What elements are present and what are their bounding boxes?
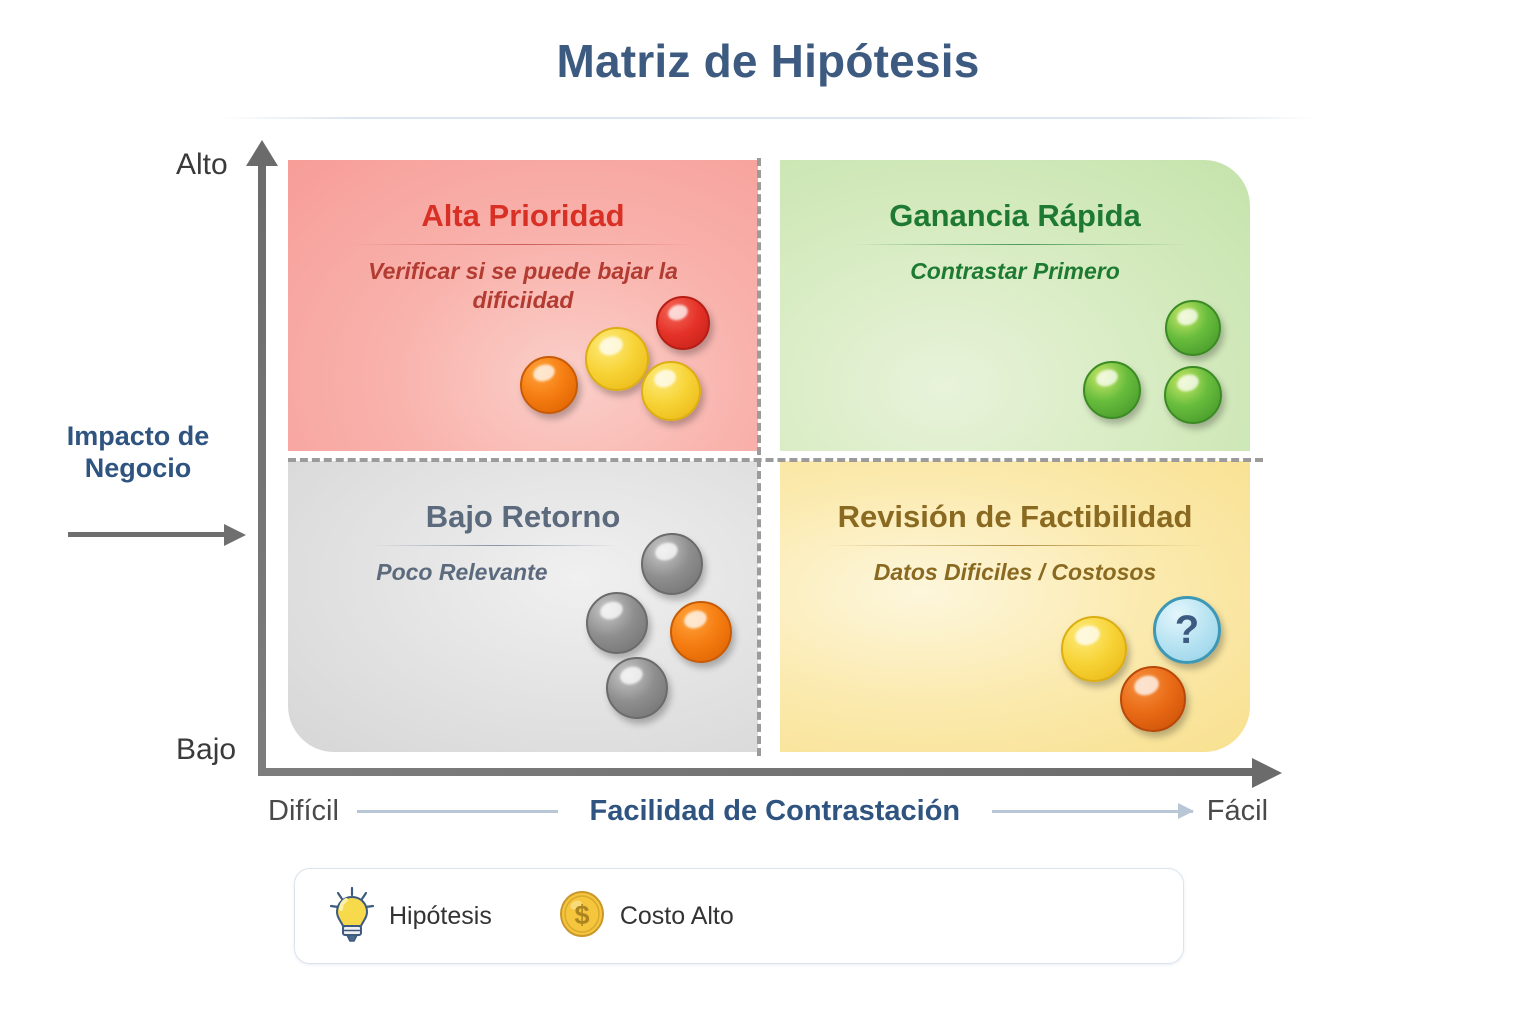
- matrix-horizontal-divider: [288, 458, 1263, 462]
- quadrant-ganancia-rapida[interactable]: Ganancia Rápida Contrastar Primero: [780, 160, 1250, 451]
- legend-item-hipotesis[interactable]: Hipótesis: [329, 886, 492, 947]
- marker-sphere[interactable]: [641, 361, 701, 421]
- hypothesis-matrix: Alta Prioridad Verificar si se puede baj…: [288, 160, 1250, 752]
- marker-sphere[interactable]: [1083, 361, 1141, 419]
- quadrant-alta-prioridad[interactable]: Alta Prioridad Verificar si se puede baj…: [288, 160, 758, 451]
- y-axis-line: [258, 155, 266, 775]
- legend-label: Hipótesis: [389, 902, 492, 931]
- quadrant-title: Alta Prioridad: [288, 198, 758, 234]
- marker-sphere[interactable]: [586, 592, 648, 654]
- x-axis-left-label: Difícil: [268, 795, 339, 828]
- arrow-right-icon: [224, 524, 246, 546]
- quadrant-title: Revisión de Factibilidad: [780, 499, 1250, 535]
- quadrant-subtitle: Contrastar Primero: [808, 257, 1222, 286]
- question-marker-icon[interactable]: ?: [1153, 596, 1221, 664]
- dollar-coin-icon: $: [558, 890, 606, 943]
- legend-item-costo-alto[interactable]: $ Costo Alto: [558, 890, 734, 943]
- marker-sphere[interactable]: [1165, 300, 1221, 356]
- marker-sphere[interactable]: [585, 327, 649, 391]
- x-axis-connector-right: [992, 810, 1193, 813]
- quadrant-divider: [852, 244, 1188, 245]
- quadrant-divider: [372, 545, 618, 546]
- x-axis-line: [258, 768, 1258, 776]
- y-axis-title: Impacto de Negocio: [38, 420, 238, 485]
- quadrant-divider: [824, 545, 1206, 546]
- y-axis-high-label: Alto: [176, 148, 228, 182]
- y-axis-pointer-line: [68, 532, 228, 537]
- marker-sphere[interactable]: [520, 356, 578, 414]
- x-axis-right-label: Fácil: [1207, 795, 1268, 828]
- quadrant-title: Ganancia Rápida: [780, 198, 1250, 234]
- y-axis-low-label: Bajo: [176, 733, 236, 767]
- question-glyph: ?: [1175, 610, 1199, 650]
- title-divider: [218, 117, 1318, 119]
- page-title: Matriz de Hipótesis: [557, 35, 980, 87]
- marker-sphere[interactable]: [606, 657, 668, 719]
- legend: Hipótesis $ Costo Alto: [294, 868, 1184, 964]
- quadrant-revision-de-factibilidad[interactable]: Revisión de Factibilidad Datos Dificiles…: [780, 461, 1250, 752]
- lightbulb-icon: [329, 886, 375, 947]
- svg-text:$: $: [574, 900, 589, 930]
- x-axis-connector-left: [357, 810, 558, 813]
- x-axis-arrowhead-icon: [1252, 758, 1282, 788]
- quadrant-title: Bajo Retorno: [288, 499, 758, 535]
- quadrant-subtitle: Datos Dificiles / Costosos: [808, 558, 1222, 587]
- marker-sphere[interactable]: [670, 601, 732, 663]
- header: Matriz de Hipótesis: [0, 34, 1536, 88]
- quadrant-divider: [350, 244, 696, 245]
- marker-sphere[interactable]: [1164, 366, 1222, 424]
- marker-sphere[interactable]: [1120, 666, 1186, 732]
- marker-sphere[interactable]: [656, 296, 710, 350]
- quadrant-bajo-retorno[interactable]: Bajo Retorno Poco Relevante: [288, 461, 758, 752]
- x-axis-label-row: Difícil Facilidad de Contrastación Fácil: [268, 795, 1268, 828]
- marker-sphere[interactable]: [641, 533, 703, 595]
- quadrant-subtitle: Poco Relevante: [297, 558, 626, 587]
- legend-label: Costo Alto: [620, 902, 734, 931]
- y-axis-arrowhead-icon: [246, 140, 278, 166]
- matrix-vertical-divider: [757, 158, 761, 756]
- marker-sphere[interactable]: [1061, 616, 1127, 682]
- x-axis-title: Facilidad de Contrastación: [576, 795, 975, 828]
